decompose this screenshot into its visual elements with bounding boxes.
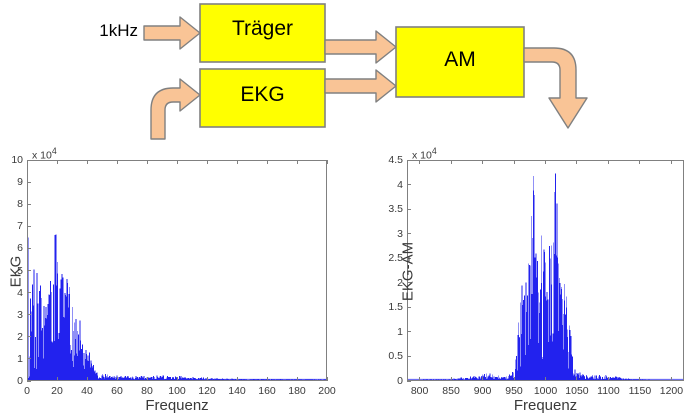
x-tick-mark	[117, 377, 118, 381]
y-tick-mark	[27, 226, 31, 227]
x-tick-mark-top	[639, 160, 640, 164]
y-tick-label: 0.5	[373, 350, 403, 362]
block-diagram-canvas	[0, 0, 697, 145]
y-tick-label: 3	[373, 228, 403, 240]
y-tick-mark	[407, 381, 411, 382]
x-tick-label: 0	[24, 385, 30, 397]
y-tick-label: 2.5	[373, 252, 403, 264]
x-tick-mark	[451, 377, 452, 381]
x-tick-label: 100	[168, 385, 186, 397]
x-tick-mark-top	[117, 160, 118, 164]
x-tick-mark-top	[514, 160, 515, 164]
x-tick-mark	[27, 377, 28, 381]
chart-ekg-spectrum: x 104 012345678910 020406080100120140160…	[0, 140, 350, 420]
y-tick-label: 9	[0, 176, 23, 188]
x-tick-label: 200	[318, 385, 336, 397]
block-ekg	[200, 69, 325, 127]
x-tick-mark	[177, 377, 178, 381]
y-tick-mark	[27, 182, 31, 183]
y-tick-mark	[27, 358, 31, 359]
x-tick-label: 1000	[534, 385, 557, 397]
x-tick-label: 40	[81, 385, 93, 397]
x-tick-mark-top	[545, 160, 546, 164]
block-am	[396, 27, 524, 97]
x-tick-label: 180	[288, 385, 306, 397]
y-tick-label: 4	[373, 179, 403, 191]
y-tick-label: 1	[0, 353, 23, 365]
x-tick-label: 850	[442, 385, 460, 397]
x-tick-mark-top	[207, 160, 208, 164]
x-tick-label: 950	[505, 385, 523, 397]
x-axis-title-ekg-am: Frequenz	[407, 397, 684, 414]
y-axis-title-ekg-am: EKG-AM	[400, 212, 417, 332]
y-axis-title-ekg: EKG	[8, 232, 25, 312]
x-tick-mark	[87, 377, 88, 381]
x-tick-mark	[482, 377, 483, 381]
y-tick-label: 4.5	[373, 154, 403, 166]
x-tick-label: 80	[141, 385, 153, 397]
chart-ekg-am-spectrum: x 104 00.511.522.533.544.5 8008509009501…	[350, 140, 697, 420]
arrow-input-to-traeger	[144, 17, 200, 49]
y-tick-label: 3.5	[373, 203, 403, 215]
y-tick-label: 1.5	[373, 301, 403, 313]
x-tick-mark	[419, 377, 420, 381]
x-tick-label: 120	[198, 385, 216, 397]
x-tick-mark	[267, 377, 268, 381]
plot-area-ekg-am	[407, 160, 684, 381]
arrow-traeger-to-am	[325, 31, 396, 63]
x-tick-mark	[545, 377, 546, 381]
x-tick-mark-top	[177, 160, 178, 164]
y-tick-label: 7	[0, 220, 23, 232]
y-tick-mark	[407, 160, 411, 161]
spectrum-trace-ekg-am	[408, 161, 683, 380]
x-tick-mark-top	[327, 160, 328, 164]
y-axis-multiplier-exponent: 4	[52, 146, 57, 156]
x-tick-mark	[147, 377, 148, 381]
y-tick-mark	[407, 209, 411, 210]
y-tick-label: 2	[0, 331, 23, 343]
y-tick-mark	[27, 248, 31, 249]
x-tick-mark	[327, 377, 328, 381]
x-tick-mark-top	[87, 160, 88, 164]
x-tick-mark	[297, 377, 298, 381]
y-tick-mark	[407, 184, 411, 185]
arrow-curved-to-ekg	[151, 79, 200, 139]
x-tick-mark	[514, 377, 515, 381]
x-tick-mark	[639, 377, 640, 381]
x-tick-mark-top	[482, 160, 483, 164]
y-axis-multiplier-exponent: 4	[432, 146, 437, 156]
y-tick-mark	[27, 292, 31, 293]
x-tick-label: 900	[474, 385, 492, 397]
x-tick-mark	[237, 377, 238, 381]
x-tick-mark-top	[297, 160, 298, 164]
x-tick-label: 1100	[597, 385, 620, 397]
y-tick-mark	[27, 336, 31, 337]
x-tick-mark	[671, 377, 672, 381]
block-traeger	[200, 4, 325, 62]
x-tick-label: 1050	[565, 385, 588, 397]
x-tick-label: 1150	[629, 385, 652, 397]
y-tick-mark	[27, 160, 31, 161]
x-tick-mark-top	[419, 160, 420, 164]
y-tick-label: 1	[373, 326, 403, 338]
x-tick-mark	[608, 377, 609, 381]
x-tick-mark-top	[267, 160, 268, 164]
x-tick-mark-top	[576, 160, 577, 164]
x-tick-mark-top	[451, 160, 452, 164]
arrow-ekg-to-am	[325, 70, 396, 102]
plot-area-ekg	[27, 160, 327, 381]
x-tick-label: 1200	[660, 385, 683, 397]
x-tick-mark	[207, 377, 208, 381]
y-tick-label: 2	[373, 277, 403, 289]
spectrum-trace-ekg	[28, 161, 326, 380]
x-tick-label: 160	[258, 385, 276, 397]
y-tick-mark	[407, 331, 411, 332]
y-tick-label: 8	[0, 198, 23, 210]
x-tick-label: 20	[51, 385, 63, 397]
x-tick-mark-top	[57, 160, 58, 164]
y-tick-mark	[27, 314, 31, 315]
x-tick-label: 800	[411, 385, 429, 397]
x-axis-title-ekg: Frequenz	[27, 397, 327, 414]
x-tick-mark-top	[237, 160, 238, 164]
y-tick-label: 0	[373, 375, 403, 387]
y-tick-mark	[27, 270, 31, 271]
x-tick-mark-top	[608, 160, 609, 164]
x-tick-mark	[576, 377, 577, 381]
x-tick-label: 60	[111, 385, 123, 397]
x-tick-mark-top	[147, 160, 148, 164]
x-tick-mark	[57, 377, 58, 381]
y-tick-label: 0	[0, 375, 23, 387]
y-tick-mark	[27, 204, 31, 205]
x-tick-mark-top	[671, 160, 672, 164]
x-tick-label: 140	[228, 385, 246, 397]
x-tick-mark-top	[27, 160, 28, 164]
y-tick-label: 10	[0, 154, 23, 166]
block-diagram: 1kHz Träger EKG AM	[0, 0, 697, 145]
arrow-am-output	[524, 48, 587, 128]
y-tick-mark	[27, 381, 31, 382]
y-tick-mark	[407, 356, 411, 357]
